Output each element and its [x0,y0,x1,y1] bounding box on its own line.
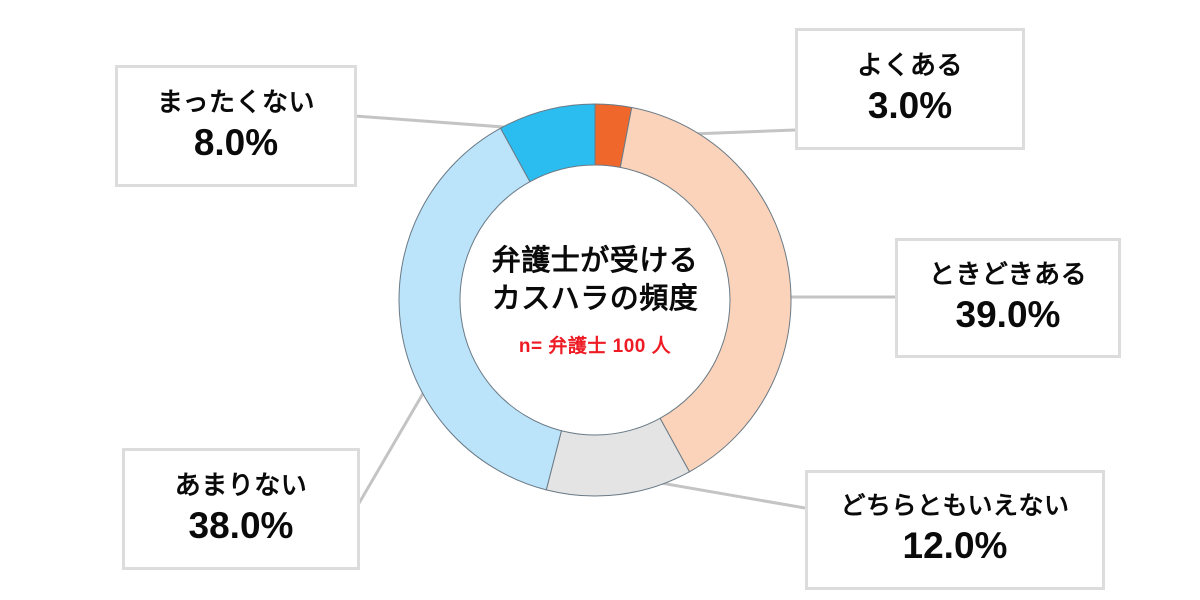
callout-amarinai: あまりない 38.0% [122,448,360,570]
callout-label-yokuaru: よくある [857,51,963,80]
callout-yokuaru: よくある 3.0% [795,28,1025,150]
chart-canvas: 弁護士が受ける カスハラの頻度 n= 弁護士 100 人 まったくない 8.0%… [0,0,1200,600]
callout-dochiratomo: どちらともいえない 12.0% [805,470,1105,590]
donut-slice-あまりない[interactable] [399,128,561,490]
callout-tokidoki: ときどきある 39.0% [895,238,1121,358]
callout-label-amarinai: あまりない [175,471,308,500]
callout-label-tokidoki: ときどきある [929,260,1087,289]
callout-mattakunai: まったくない 8.0% [115,65,357,187]
callout-value-tokidoki: 39.0% [956,295,1061,336]
donut-slice-ときどきある[interactable] [620,107,791,471]
callout-value-yokuaru: 3.0% [868,86,952,127]
callout-value-mattakunai: 8.0% [194,123,278,164]
callout-label-dochiratomo: どちらともいえない [840,493,1069,521]
callout-value-amarinai: 38.0% [189,506,294,547]
donut-slices [399,104,791,496]
callout-value-dochiratomo: 12.0% [903,526,1008,567]
callout-label-mattakunai: まったくない [157,88,315,117]
leader-line-amarinai [358,378,432,505]
